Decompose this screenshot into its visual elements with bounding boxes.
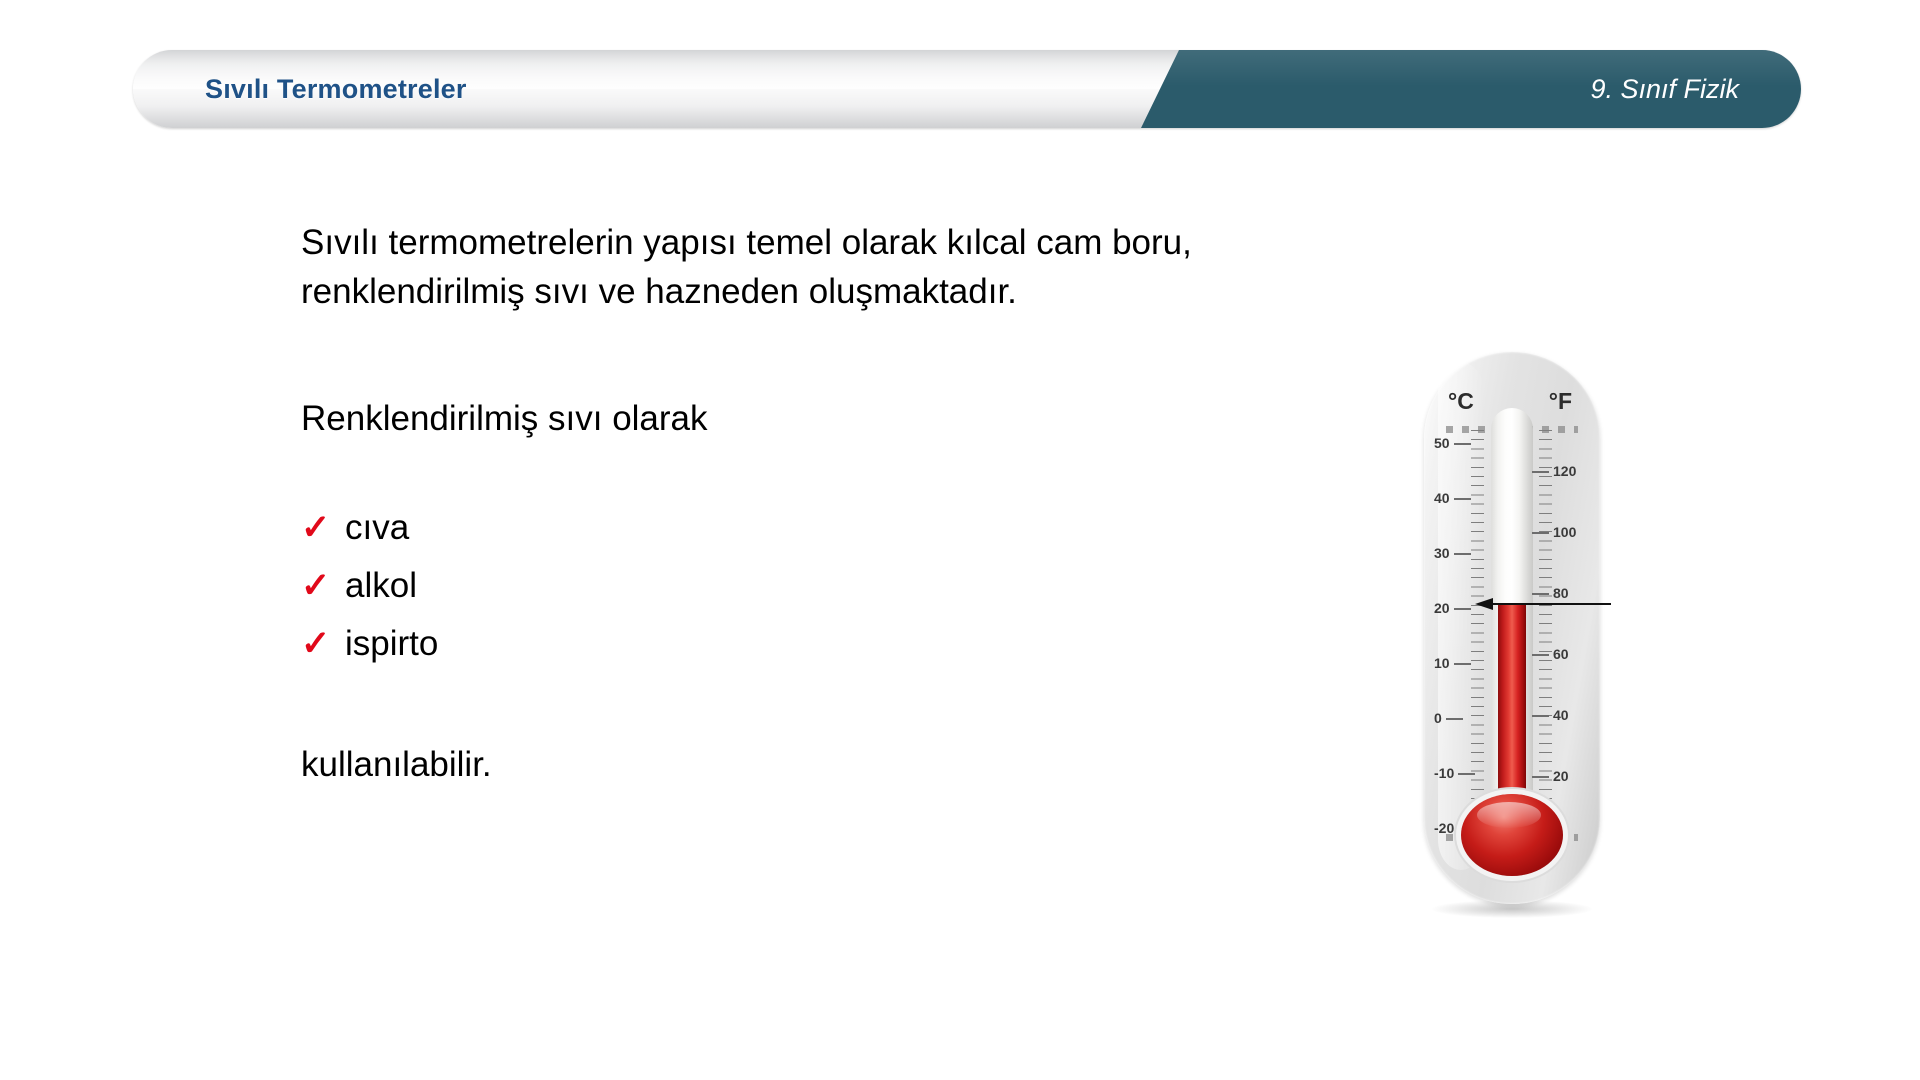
slide-canvas: Sıvılı Termometreler 9. Sınıf Fizik Sıvı… (0, 0, 1920, 1080)
check-icon: ✓ (301, 626, 345, 661)
scale-tick-mark (1454, 553, 1471, 555)
fahrenheit-tick-label: 20 (1553, 769, 1569, 783)
fahrenheit-scale: 120 100 80 60 40 20 (1528, 438, 1588, 830)
closing-paragraph: kullanılabilir. (301, 740, 492, 789)
celsius-scale: 50 40 30 20 10 0 (1434, 438, 1494, 830)
celsius-tick-label: -20 (1434, 821, 1454, 835)
celsius-tick-label: 10 (1434, 656, 1450, 670)
scale-tick-mark (1532, 776, 1549, 778)
page-title: Sıvılı Termometreler (205, 50, 467, 128)
arrow-line (1489, 603, 1611, 605)
scale-tick-mark (1532, 654, 1549, 656)
celsius-tick-label: 50 (1434, 436, 1450, 450)
scale-tick-mark (1532, 471, 1549, 473)
scale-tick-mark (1532, 715, 1549, 717)
fahrenheit-tick-label: 120 (1553, 464, 1576, 478)
scale-tick-mark (1454, 663, 1471, 665)
list-item: ✓ cıva (301, 508, 438, 566)
liquid-options-list: ✓ cıva ✓ alkol ✓ ispirto (301, 508, 438, 682)
scale-tick-mark (1446, 718, 1463, 720)
list-item-label: alkol (345, 566, 417, 606)
celsius-tick-label: 40 (1434, 491, 1450, 505)
scale-tick-mark (1532, 532, 1549, 534)
celsius-tick-label: 0 (1434, 711, 1442, 725)
course-label: 9. Sınıf Fizik (1590, 50, 1739, 128)
list-item: ✓ alkol (301, 566, 438, 624)
fahrenheit-tick-label: 100 (1553, 525, 1576, 539)
scale-tick-mark (1454, 443, 1471, 445)
list-item: ✓ ispirto (301, 624, 438, 682)
scale-tick-mark (1454, 498, 1471, 500)
celsius-unit-label: °C (1448, 388, 1474, 415)
list-item-label: cıva (345, 508, 409, 548)
celsius-tick-label: 30 (1434, 546, 1450, 560)
scale-tick-mark (1458, 773, 1475, 775)
list-item-label: ispirto (345, 624, 438, 664)
scale-tick-mark (1454, 608, 1471, 610)
fahrenheit-tick-label: 60 (1553, 647, 1569, 661)
reading-pointer-arrow (1475, 598, 1611, 610)
check-icon: ✓ (301, 568, 345, 603)
scale-tick-mark (1532, 593, 1549, 595)
check-icon: ✓ (301, 510, 345, 545)
intro-paragraph: Sıvılı termometrelerin yapısı temel olar… (301, 218, 1381, 316)
thermometer-bulb (1461, 794, 1563, 876)
fahrenheit-unit-label: °F (1549, 388, 1572, 415)
lead-in-text: Renklendirilmiş sıvı olarak (301, 394, 708, 443)
celsius-tick-label: 20 (1434, 601, 1450, 615)
fahrenheit-tick-label: 40 (1553, 708, 1569, 722)
slide-header-bar: Sıvılı Termometreler 9. Sınıf Fizik (133, 50, 1801, 128)
thermometer-illustration: °C °F 50 40 30 20 10 (1424, 352, 1600, 912)
celsius-tick-label: -10 (1434, 766, 1454, 780)
